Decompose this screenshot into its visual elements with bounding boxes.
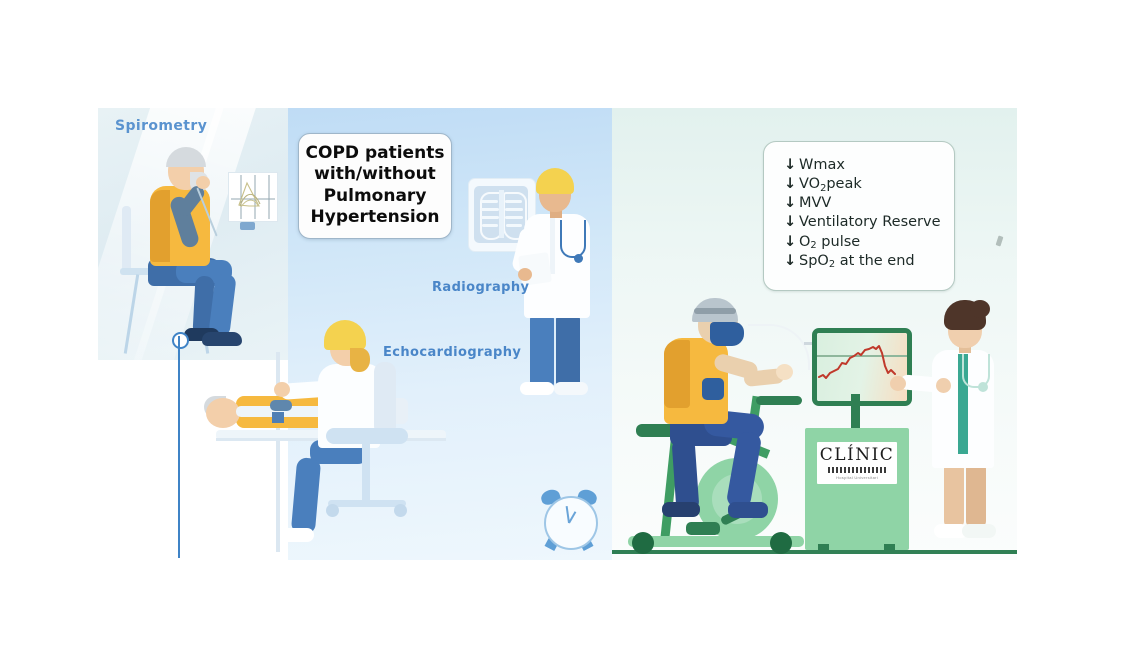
nurse-hand-right — [936, 378, 951, 393]
doctor-leg-left — [530, 314, 554, 388]
doctor-hair — [536, 168, 574, 194]
echo-doctor-shin — [291, 457, 322, 535]
blood-pressure-cuff — [702, 378, 724, 400]
xray-rib — [481, 200, 498, 203]
result-item-wmax: ↓Wmax — [784, 156, 954, 175]
nurse-leg-right — [966, 462, 986, 528]
patient-vest — [150, 190, 170, 262]
nurse-hand-left — [890, 376, 906, 391]
xray-spine — [499, 190, 504, 238]
cyclist-headgear-strap — [694, 308, 736, 314]
nurse-hair-bun — [970, 300, 990, 318]
population-callout-text: COPD patients with/without Pulmonary Hyp… — [299, 134, 451, 228]
results-callout-box: ↓Wmax ↓VO2peak ↓MVV ↓Ventilatory Reserve… — [763, 141, 955, 291]
results-list: ↓Wmax ↓VO2peak ↓MVV ↓Ventilatory Reserve… — [764, 142, 954, 271]
cpet-exercise-trace — [817, 333, 897, 391]
xray-rib — [481, 216, 499, 219]
doctor-shoe-right — [554, 382, 588, 395]
clinic-logo-subtitle: Hospital Universitari — [817, 475, 897, 480]
result-item-o2-pulse: ↓O2 pulse — [784, 233, 954, 252]
flow-volume-loop-icon — [228, 172, 278, 222]
stethoscope-bell — [574, 254, 583, 263]
alarm-clock-icon — [540, 490, 598, 548]
graphical-abstract-canvas: Spirometry — [0, 0, 1129, 655]
bike-wheel-right — [770, 532, 792, 554]
iv-pole — [178, 336, 180, 558]
cpet-patient-figure — [660, 296, 810, 526]
cart-foot-right — [884, 544, 895, 554]
population-line-3: Pulmonary — [305, 186, 445, 207]
xray-rib — [482, 224, 498, 227]
echo-doctor-beard — [350, 348, 370, 372]
office-chair — [326, 428, 412, 553]
down-arrow-icon: ↓ — [784, 213, 799, 232]
office-chair-back — [374, 362, 396, 436]
xray-rib — [481, 208, 499, 211]
clinic-wordmark: CLÍNIC — [817, 442, 897, 464]
clinic-logo-bar — [828, 467, 886, 473]
result-item-vo2peak: ↓VO2peak — [784, 175, 954, 194]
echo-doctor-shoe — [280, 528, 314, 542]
bike-wheel-left — [632, 532, 654, 554]
ultrasound-probe — [270, 400, 292, 411]
cyclist-shoe-back — [662, 502, 700, 517]
echo-doctor-hand — [274, 382, 290, 397]
office-chair-wheel — [326, 504, 339, 517]
gas-analyzer-tube — [748, 324, 810, 370]
population-callout-box: COPD patients with/without Pulmonary Hyp… — [298, 133, 452, 239]
cyclist-shoe-front — [728, 502, 768, 518]
cpet-trace-monitor — [812, 328, 912, 406]
down-arrow-icon: ↓ — [784, 194, 799, 213]
chair-back — [122, 206, 131, 272]
clinic-logo: CLÍNIC Hospital Universitari — [817, 442, 897, 484]
result-item-mvv: ↓MVV — [784, 194, 954, 213]
doctor-coat-lapel — [550, 214, 555, 274]
office-chair-wheel — [394, 504, 407, 517]
doctor-shoe-left — [520, 382, 554, 395]
echo-patient-head — [206, 398, 240, 428]
cpet-cart: CLÍNIC Hospital Universitari — [805, 428, 909, 550]
result-item-spo2: ↓SpO2 at the end — [784, 252, 954, 271]
patient-shoe-front — [202, 332, 242, 346]
cart-foot-left — [818, 544, 829, 554]
down-arrow-icon: ↓ — [784, 233, 799, 252]
doctor-leg-right — [556, 314, 580, 388]
cyclist-shoulder — [664, 340, 690, 408]
stethoscope-bell — [978, 382, 988, 392]
label-spirometry: Spirometry — [115, 118, 207, 134]
label-radiography: Radiography — [432, 280, 529, 295]
ultrasound-probe-head — [272, 412, 284, 423]
nurse-leg-left — [944, 462, 964, 528]
spirometer-device — [240, 222, 255, 230]
clock-face — [544, 496, 598, 550]
iv-pole-knob — [172, 332, 189, 349]
cpet-nurse-figure — [918, 300, 1018, 552]
office-chair-stem — [362, 442, 370, 502]
population-line-2: with/without — [305, 164, 445, 185]
down-arrow-icon: ↓ — [784, 156, 799, 175]
stethoscope-icon — [560, 220, 586, 258]
down-arrow-icon: ↓ — [784, 175, 799, 194]
cpet-face-mask — [710, 322, 744, 346]
echo-doctor-hair — [324, 320, 366, 350]
chair-leg-front — [124, 274, 139, 353]
population-line-4: Hypertension — [305, 207, 445, 228]
result-item-ventilatory-reserve: ↓Ventilatory Reserve — [784, 213, 954, 232]
down-arrow-icon: ↓ — [784, 252, 799, 271]
nurse-shoe-right — [962, 524, 996, 538]
patient-hair — [166, 147, 206, 167]
population-line-1: COPD patients — [305, 143, 445, 164]
label-echocardiography: Echocardiography — [383, 345, 521, 360]
cyclist-shin-front — [726, 430, 763, 509]
